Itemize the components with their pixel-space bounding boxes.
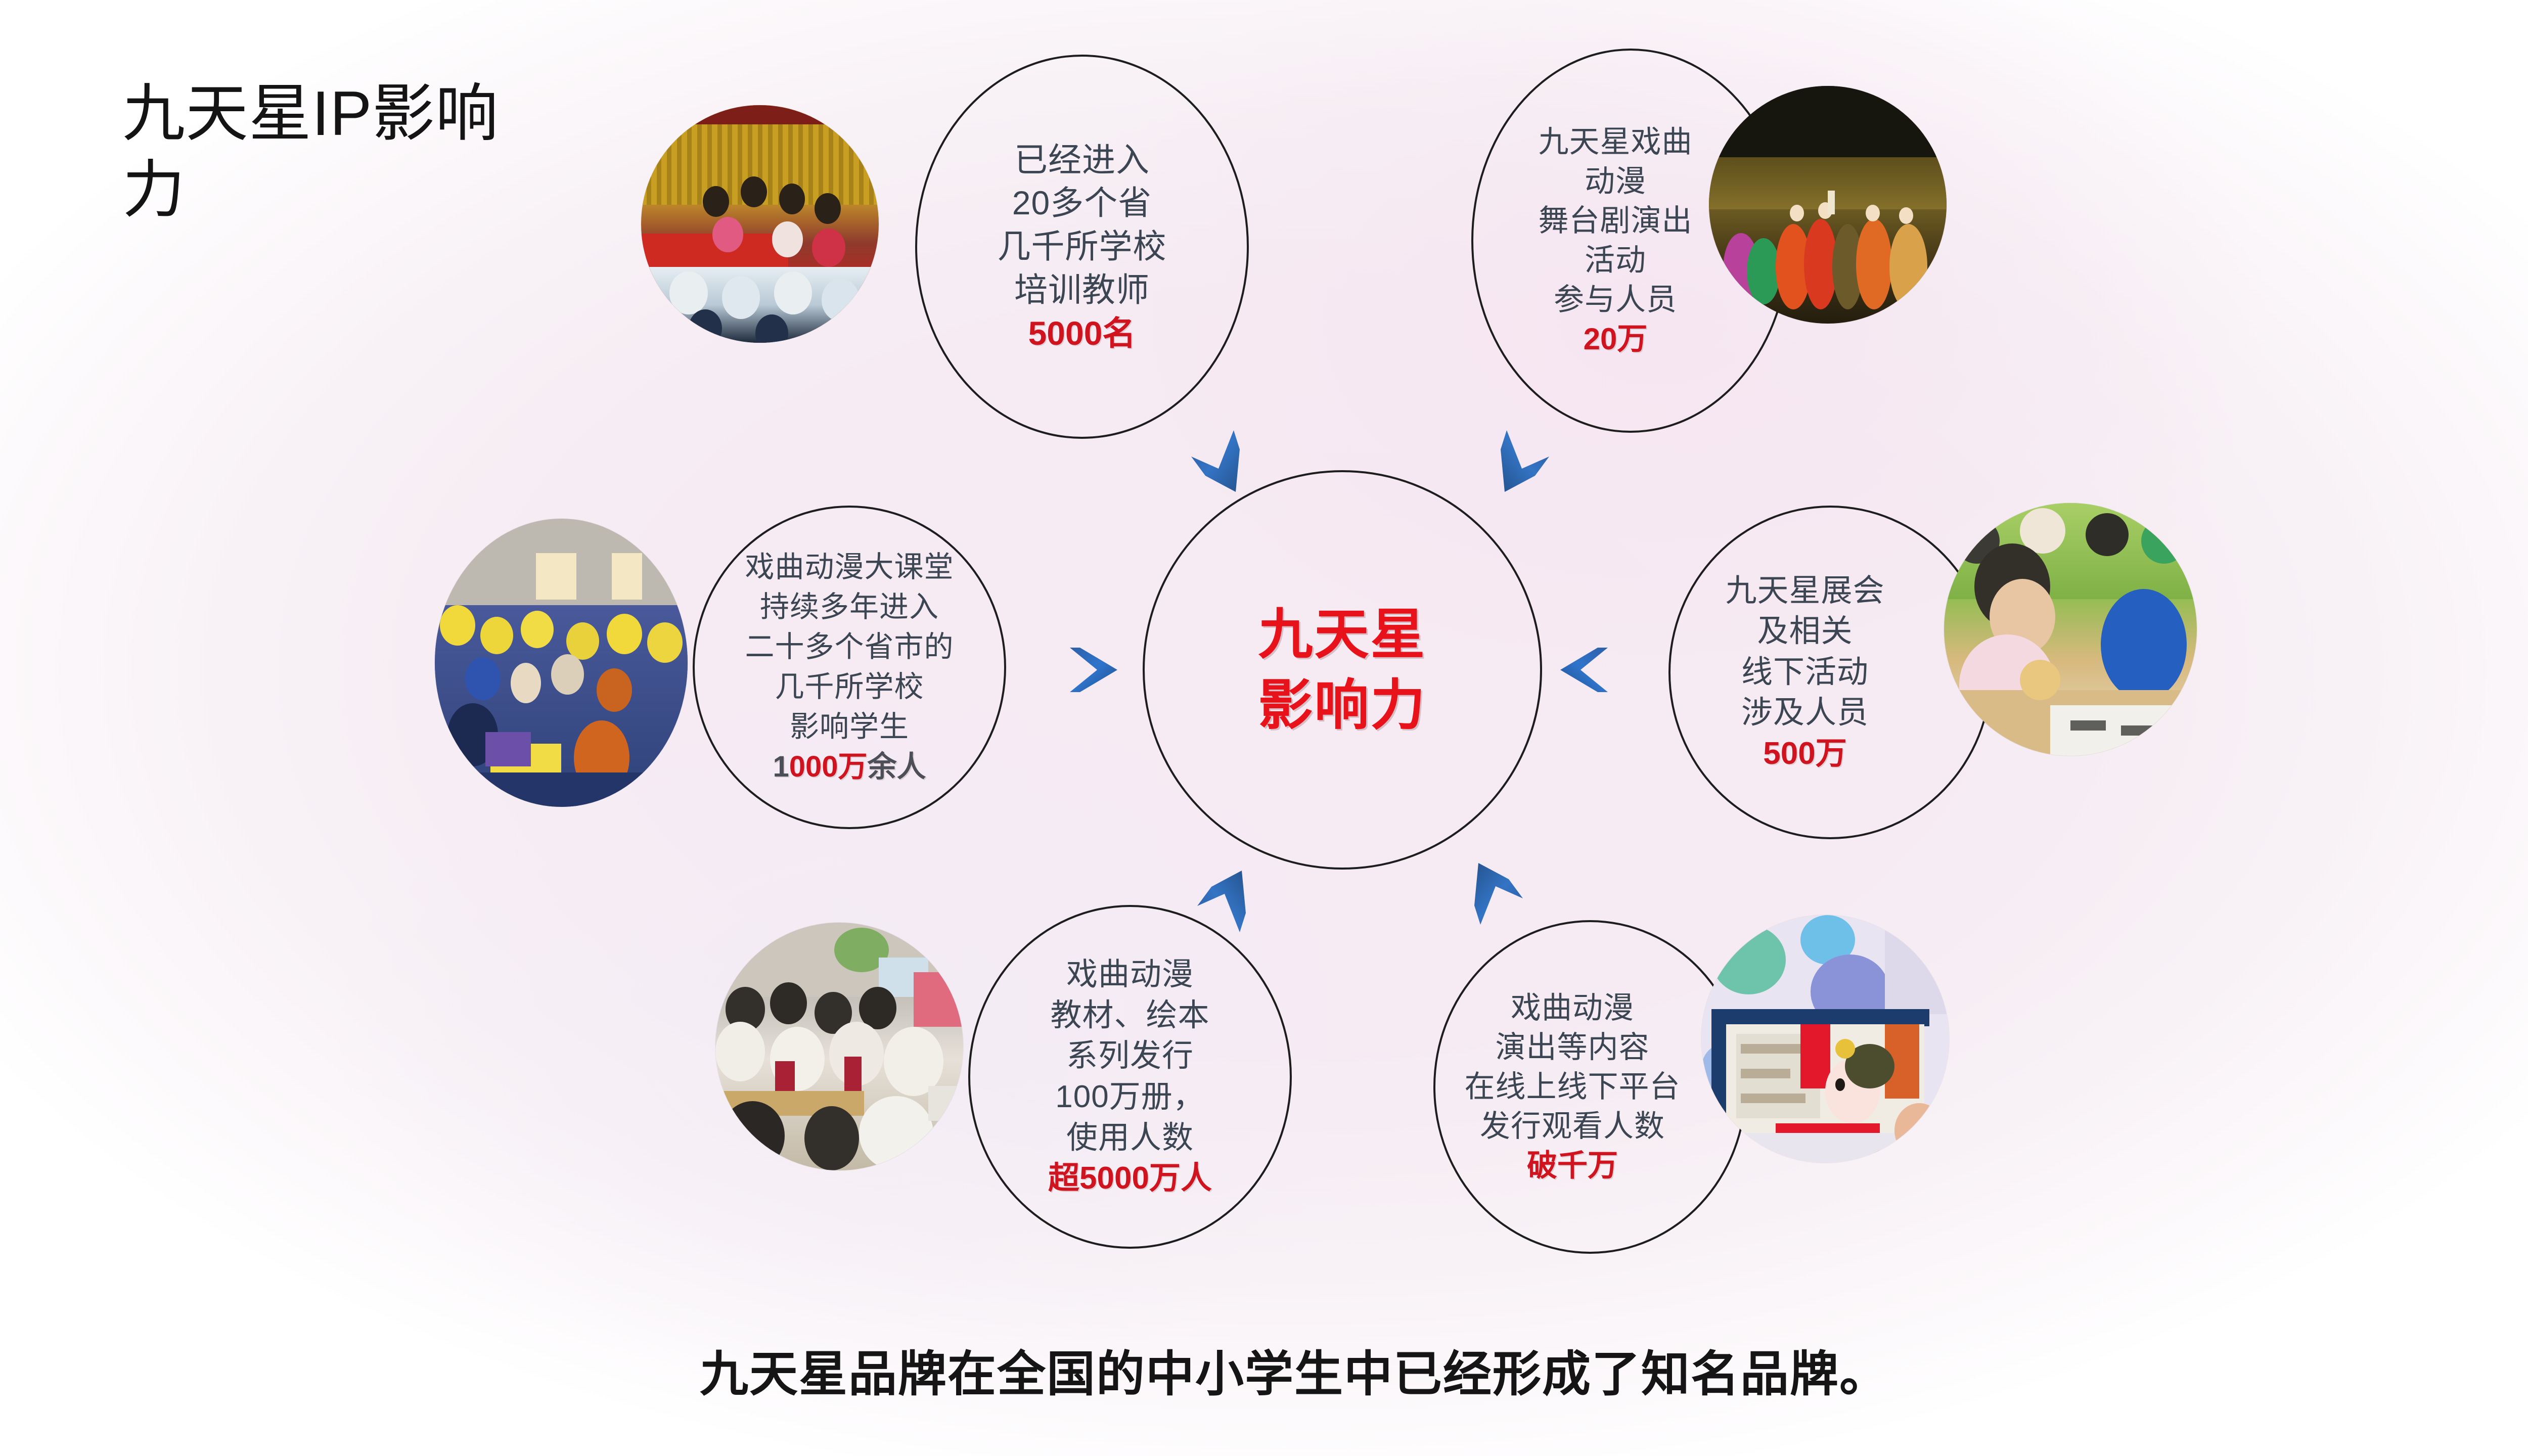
- arrow-from-top-right: [1482, 427, 1553, 513]
- bubble-bottom-right[interactable]: [1433, 920, 1747, 1254]
- bubble-left[interactable]: [693, 506, 1006, 829]
- bubble-right[interactable]: [1668, 506, 1992, 839]
- arrow-from-top-left: [1187, 427, 1258, 513]
- photo-classroom-books: [435, 519, 688, 807]
- photo-kids-exhibition: [1944, 503, 2197, 756]
- photo-stage-opera: [1709, 86, 1947, 324]
- center-line-2: 影响力: [1258, 670, 1426, 741]
- center-node-label: 九天星 影响力: [1143, 470, 1542, 870]
- arrow-from-right: [1556, 645, 1612, 695]
- bottom-caption: 九天星品牌在全国的中小学生中已经形成了知名品牌。: [0, 1335, 2528, 1405]
- arrow-from-bottom-left: [1193, 849, 1264, 935]
- center-line-1: 九天星: [1258, 599, 1426, 670]
- photo-cartoon-laptop: [1701, 915, 1949, 1163]
- arrow-from-left: [1066, 645, 1121, 695]
- arrow-from-bottom-right: [1456, 842, 1527, 928]
- photo-school-performance: [641, 105, 879, 343]
- bubble-top-left[interactable]: [915, 55, 1249, 439]
- bubble-bottom-left[interactable]: [968, 905, 1292, 1249]
- photo-students-desks: [715, 923, 963, 1170]
- page-title: 九天星IP影响 力: [122, 76, 542, 229]
